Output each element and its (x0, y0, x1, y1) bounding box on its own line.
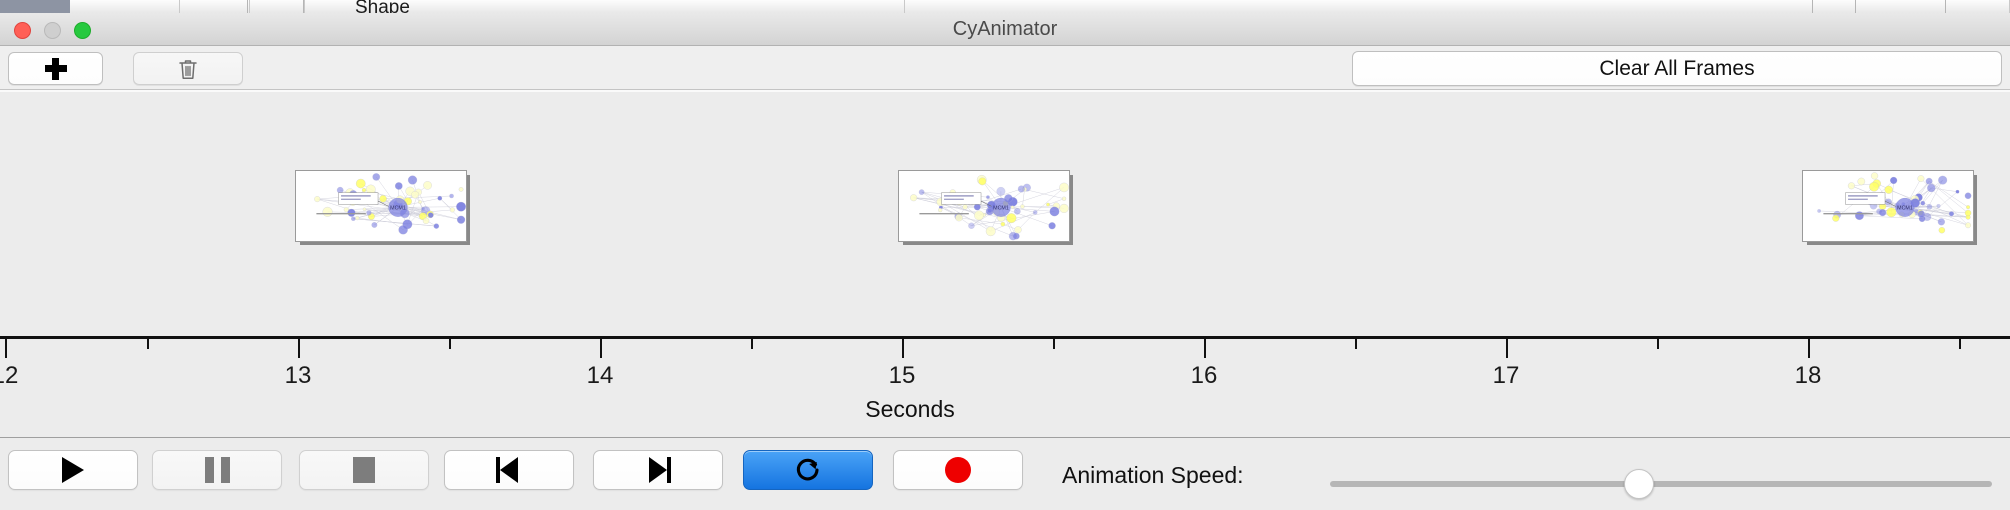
playback-control-bar: Animation Speed: (0, 437, 2010, 510)
background-window-divider (1812, 0, 1813, 13)
svg-text:MCM1: MCM1 (993, 205, 1009, 211)
frame-thumbnail[interactable]: MCM1 (898, 170, 1070, 242)
axis-tick-major (902, 339, 904, 358)
play-button[interactable] (8, 450, 138, 490)
axis-tick-minor (147, 339, 149, 349)
background-window-sidebar (0, 0, 70, 13)
stop-icon (353, 457, 375, 483)
axis-title-label: Seconds (865, 396, 955, 422)
svg-text:MCM1: MCM1 (1897, 205, 1913, 211)
plus-icon (45, 58, 67, 80)
timeline-panel[interactable]: MCM1MCM1MCM1 12131415161718 Seconds (0, 90, 2010, 412)
skip-forward-icon (645, 457, 671, 483)
axis-tick-label: 16 (1191, 362, 1218, 390)
background-window-segment (250, 0, 305, 13)
cyanimator-window: Shape CyAnimator Clear All Frames MCM1MC… (0, 0, 2010, 510)
record-icon (945, 457, 971, 483)
background-window-strip: Shape (0, 0, 2010, 13)
background-window-segment (180, 0, 250, 13)
background-window-divider (1855, 0, 1856, 13)
delete-frame-button[interactable] (133, 52, 243, 85)
axis-tick-minor (751, 339, 753, 349)
play-icon (62, 457, 84, 483)
axis-tick-label: 17 (1493, 362, 1520, 390)
axis-tick-label: 12 (0, 362, 18, 390)
axis-tick-minor (449, 339, 451, 349)
axis-tick-major (1204, 339, 1206, 358)
stop-button[interactable] (299, 450, 429, 490)
background-window-segment (905, 0, 2010, 13)
axis-tick-label: 15 (889, 362, 916, 390)
axis-tick-label: 14 (587, 362, 614, 390)
axis-tick-minor (1657, 339, 1659, 349)
record-button[interactable] (893, 450, 1023, 490)
animation-speed-slider-thumb[interactable] (1624, 469, 1654, 499)
trash-icon (178, 58, 198, 80)
previous-frame-button[interactable] (444, 450, 574, 490)
add-frame-button[interactable] (8, 52, 103, 85)
clear-all-frames-label: Clear All Frames (1599, 57, 1754, 81)
clear-all-frames-button[interactable]: Clear All Frames (1352, 51, 2002, 86)
window-title: CyAnimator (0, 13, 2010, 46)
animation-speed-label: Animation Speed: (1062, 462, 1244, 489)
background-window-divider (1945, 0, 1946, 13)
toolbar: Clear All Frames (0, 46, 2010, 90)
svg-text:MCM1: MCM1 (390, 205, 406, 211)
background-window-segment (365, 0, 905, 13)
title-bar: CyAnimator (0, 13, 2010, 46)
axis-tick-label: 18 (1795, 362, 1822, 390)
axis-tick-major (600, 339, 602, 358)
axis-tick-major (1506, 339, 1508, 358)
background-window-segment (70, 0, 180, 13)
panel-top-highlight (0, 90, 2010, 92)
axis-tick-major (298, 339, 300, 358)
pause-button[interactable] (152, 450, 282, 490)
background-window-divider (303, 0, 304, 13)
background-window-label: Shape (355, 0, 410, 13)
timeline-axis (0, 336, 2010, 339)
axis-tick-major (5, 339, 7, 358)
axis-tick-major (1808, 339, 1810, 358)
pause-icon (205, 457, 230, 483)
background-window-divider (247, 0, 248, 13)
loop-icon (793, 455, 823, 485)
next-frame-button[interactable] (593, 450, 723, 490)
frame-thumbnail[interactable]: MCM1 (1802, 170, 1974, 242)
animation-speed-slider[interactable] (1330, 481, 1992, 487)
skip-backward-icon (496, 457, 522, 483)
axis-tick-minor (1959, 339, 1961, 349)
axis-tick-label: 13 (285, 362, 312, 390)
axis-title: Seconds (0, 396, 2010, 423)
axis-tick-minor (1053, 339, 1055, 349)
axis-tick-minor (1355, 339, 1357, 349)
frame-thumbnail[interactable]: MCM1 (295, 170, 467, 242)
loop-button[interactable] (743, 450, 873, 490)
